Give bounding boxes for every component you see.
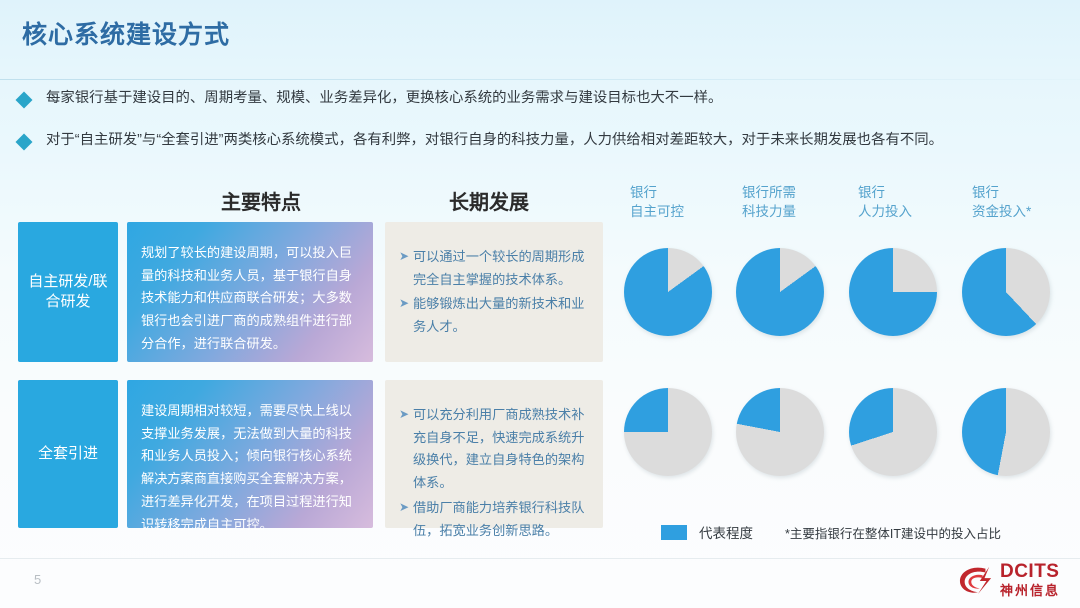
pie-column-header: 银行 资金投入*	[972, 183, 1031, 221]
bullet-text: 对于“自主研发”与“全套引进”两类核心系统模式，各有利弊，对银行自身的科技力量，…	[46, 131, 943, 150]
chart-legend: 代表程度 *主要指银行在整体IT建设中的投入占比	[661, 522, 1001, 542]
row-label-self-developed: 自主研发/联合研发	[18, 222, 118, 362]
list-item: ➤ 可以通过一个较长的周期形成完全自主掌握的技术体系。	[395, 246, 591, 291]
longterm-cell: ➤ 可以通过一个较长的周期形成完全自主掌握的技术体系。 ➤ 能够锻炼出大量的新技…	[385, 222, 603, 362]
page-title: 核心系统建设方式	[22, 15, 230, 51]
pie-chart	[624, 248, 712, 336]
footer-divider	[0, 558, 1080, 559]
slide-canvas: 核心系统建设方式 每家银行基于建设目的、周期考量、规模、业务差异化，更换核心系统…	[0, 0, 1080, 608]
bullet-item: 每家银行基于建设目的、周期考量、规模、业务差异化，更换核心系统的业务需求与建设目…	[18, 89, 722, 108]
pie-chart	[849, 248, 937, 336]
slide-header: 核心系统建设方式	[0, 0, 1080, 80]
pie-chart	[624, 388, 712, 476]
legend-label: 代表程度	[699, 522, 753, 542]
pie-chart-grid: 银行 自主可控 银行所需 科技力量 银行 人力投入 银行 资金投入*	[620, 180, 1070, 550]
list-item-text: 可以充分利用厂商成熟技术补充自身不足，快速完成系统升级换代，建立自身特色的架构体…	[413, 404, 591, 495]
pie-chart	[736, 388, 824, 476]
pie-column-header: 银行所需 科技力量	[742, 183, 796, 221]
arrow-bullet-icon: ➤	[395, 404, 413, 425]
diamond-bullet-icon	[16, 92, 33, 109]
pie-column-header: 银行 人力投入	[858, 183, 912, 221]
logo-text-cn: 神州信息	[1000, 584, 1060, 597]
list-item-text: 借助厂商能力培养银行科技队伍，拓宽业务创新思路。	[413, 497, 591, 542]
arrow-bullet-icon: ➤	[395, 497, 413, 518]
logo-text: DCITS 神州信息	[1000, 562, 1060, 597]
legend-footnote: *主要指银行在整体IT建设中的投入占比	[785, 523, 1001, 542]
bullet-item: 对于“自主研发”与“全套引进”两类核心系统模式，各有利弊，对银行自身的科技力量，…	[18, 131, 943, 150]
list-item: ➤ 借助厂商能力培养银行科技队伍，拓宽业务创新思路。	[395, 497, 591, 542]
row-label-full-purchase: 全套引进	[18, 380, 118, 528]
pie-chart	[849, 388, 937, 476]
logo-text-en: DCITS	[1000, 562, 1060, 581]
bullet-text: 每家银行基于建设目的、周期考量、规模、业务差异化，更换核心系统的业务需求与建设目…	[46, 89, 722, 108]
list-item: ➤ 能够锻炼出大量的新技术和业务人才。	[395, 293, 591, 338]
column-heading-features: 主要特点	[221, 186, 301, 215]
diamond-bullet-icon	[16, 134, 33, 151]
pie-chart	[962, 248, 1050, 336]
list-item-text: 可以通过一个较长的周期形成完全自主掌握的技术体系。	[413, 246, 591, 291]
list-item-text: 能够锻炼出大量的新技术和业务人才。	[413, 293, 591, 338]
arrow-bullet-icon: ➤	[395, 293, 413, 314]
page-number: 5	[34, 572, 41, 587]
column-heading-longterm: 长期发展	[449, 186, 529, 215]
brand-logo: DCITS 神州信息	[957, 562, 1060, 597]
pie-column-header: 银行 自主可控	[630, 183, 684, 221]
dcits-swirl-icon	[957, 563, 995, 597]
longterm-cell: ➤ 可以充分利用厂商成熟技术补充自身不足，快速完成系统升级换代，建立自身特色的架…	[385, 380, 603, 528]
list-item: ➤ 可以充分利用厂商成熟技术补充自身不足，快速完成系统升级换代，建立自身特色的架…	[395, 404, 591, 495]
pie-chart	[962, 388, 1050, 476]
legend-swatch	[661, 525, 687, 540]
arrow-bullet-icon: ➤	[395, 246, 413, 267]
pie-chart	[736, 248, 824, 336]
header-divider	[0, 79, 1080, 80]
feature-cell: 规划了较长的建设周期，可以投入巨量的科技和业务人员，基于银行自身技术能力和供应商…	[127, 222, 373, 362]
feature-cell: 建设周期相对较短，需要尽快上线以支撑业务发展，无法做到大量的科技和业务人员投入；…	[127, 380, 373, 528]
